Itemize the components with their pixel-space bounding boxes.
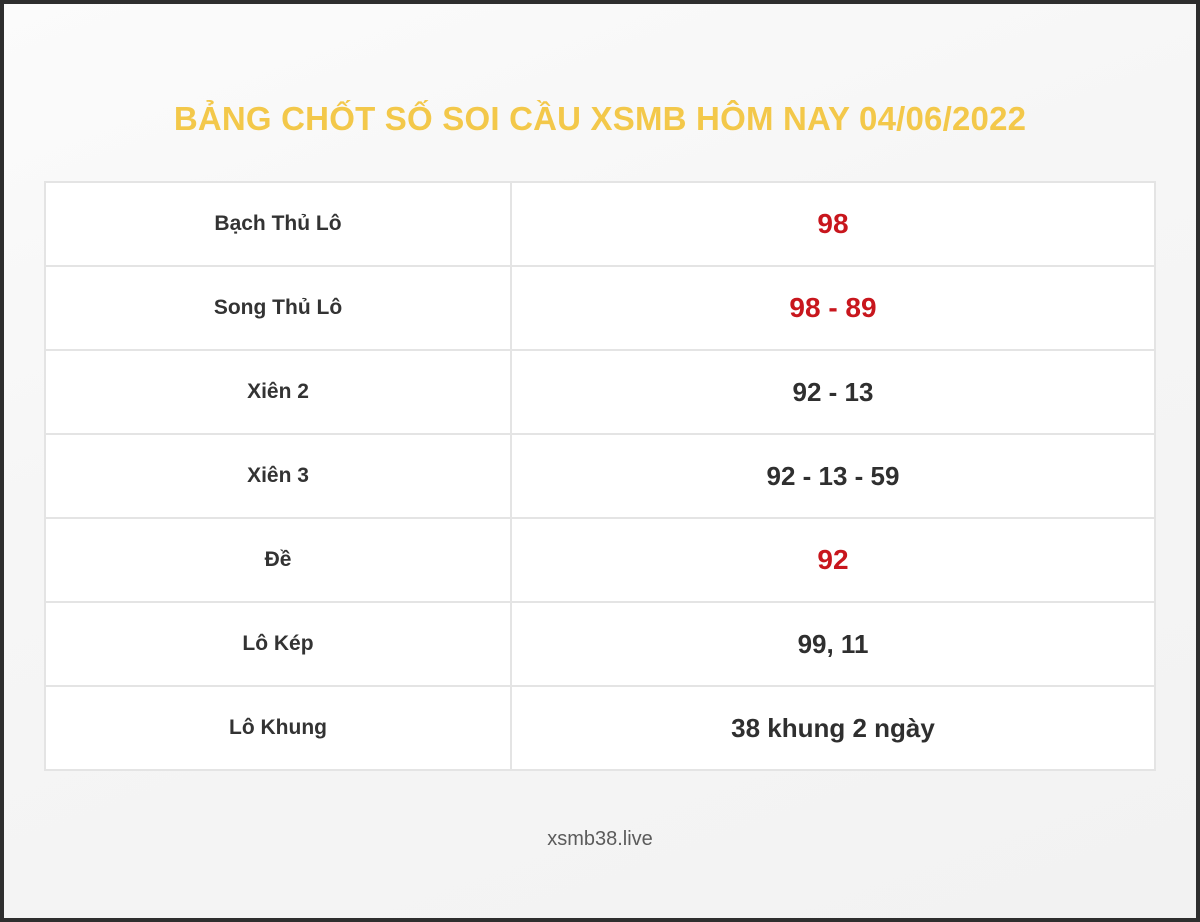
row-label-lo-kep: Lô Kép (45, 602, 511, 686)
row-value-xien-2: 92 - 13 (511, 350, 1155, 434)
page-frame: BẢNG CHỐT SỐ SOI CẦU XSMB HÔM NAY 04/06/… (4, 4, 1196, 918)
row-value-xien-3: 92 - 13 - 59 (511, 434, 1155, 518)
row-label-song-thu-lo: Song Thủ Lô (45, 266, 511, 350)
row-label-de: Đề (45, 518, 511, 602)
row-value-song-thu-lo: 98 - 89 (511, 266, 1155, 350)
table-row: Xiên 3 92 - 13 - 59 (45, 434, 1155, 518)
row-label-lo-khung: Lô Khung (45, 686, 511, 770)
table-row: Xiên 2 92 - 13 (45, 350, 1155, 434)
row-label-xien-2: Xiên 2 (45, 350, 511, 434)
table-row: Bạch Thủ Lô 98 (45, 182, 1155, 266)
table-row: Đề 92 (45, 518, 1155, 602)
row-value-de: 92 (511, 518, 1155, 602)
table-row: Lô Khung 38 khung 2 ngày (45, 686, 1155, 770)
page-title: BẢNG CHỐT SỐ SOI CẦU XSMB HÔM NAY 04/06/… (4, 100, 1196, 138)
row-label-xien-3: Xiên 3 (45, 434, 511, 518)
row-value-bach-thu-lo: 98 (511, 182, 1155, 266)
row-value-lo-kep: 99, 11 (511, 602, 1155, 686)
row-label-bach-thu-lo: Bạch Thủ Lô (45, 182, 511, 266)
table-row: Song Thủ Lô 98 - 89 (45, 266, 1155, 350)
table-row: Lô Kép 99, 11 (45, 602, 1155, 686)
prediction-table: Bạch Thủ Lô 98 Song Thủ Lô 98 - 89 Xiên … (44, 181, 1156, 771)
site-footer-label: xsmb38.live (4, 828, 1196, 851)
prediction-table-body: Bạch Thủ Lô 98 Song Thủ Lô 98 - 89 Xiên … (45, 182, 1155, 770)
row-value-lo-khung: 38 khung 2 ngày (511, 686, 1155, 770)
